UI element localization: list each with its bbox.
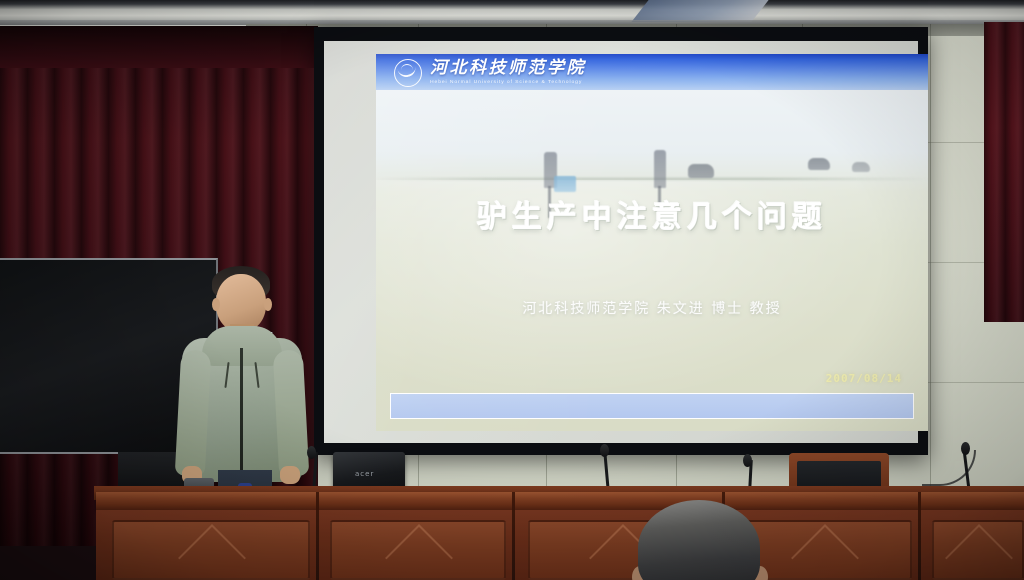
- microphone-head-3: [743, 454, 752, 467]
- ceiling-vent: [631, 0, 768, 22]
- curtain-right: [984, 22, 1024, 322]
- wall-seam-v6: [930, 24, 931, 502]
- photo-figure-animal-3: [852, 162, 870, 172]
- microphone-head-4: [961, 442, 970, 455]
- microphone-head-2: [600, 444, 609, 457]
- slide-footer-bar: [390, 393, 914, 419]
- lecture-hall-scene: 河北科技师范学院 Hebei Normal University of Scie…: [0, 0, 1024, 580]
- photo-figure-person-2: [654, 150, 666, 188]
- banner-text-block: 河北科技师范学院 Hebei Normal University of Scie…: [430, 60, 586, 85]
- slide-title: 驴生产中注意几个问题: [376, 192, 928, 236]
- presenter-jacket-zipper: [240, 348, 243, 480]
- presenter-hand-right: [280, 466, 300, 484]
- desk-seam-4: [918, 492, 921, 580]
- laptop-brand-label: acer: [355, 470, 374, 478]
- microphone-head-1: [307, 446, 316, 459]
- slide-header-banner: 河北科技师范学院 Hebei Normal University of Scie…: [376, 54, 928, 90]
- presenter-ear-left: [212, 298, 220, 311]
- institution-name-en: Hebei Normal University of Science & Tec…: [430, 80, 586, 85]
- desk-top: [96, 492, 1024, 510]
- institution-name-cn: 河北科技师范学院: [430, 60, 586, 77]
- desk-panel-1: [112, 520, 310, 580]
- projection-screen: 河北科技师范学院 Hebei Normal University of Scie…: [314, 27, 928, 455]
- presenter: [176, 266, 308, 510]
- university-seal-icon: [394, 59, 422, 87]
- photo-figure-bag: [554, 176, 576, 192]
- presenter-ear-right: [264, 298, 272, 311]
- desk-seam-2: [512, 492, 515, 580]
- slide-subtitle: 河北科技师范学院 朱文进 博士 教授: [376, 298, 928, 318]
- date-stamp: 2007/08/14: [826, 372, 902, 385]
- presenter-arm-right: [273, 349, 310, 476]
- presentation-slide: 河北科技师范学院 Hebei Normal University of Scie…: [376, 54, 928, 431]
- desk-panel-5: [932, 520, 1024, 580]
- photo-figure-animal-2: [808, 158, 830, 170]
- desk-panel-2: [330, 520, 506, 580]
- photo-figure-animal-1: [688, 164, 714, 178]
- desk-seam-1: [316, 492, 319, 580]
